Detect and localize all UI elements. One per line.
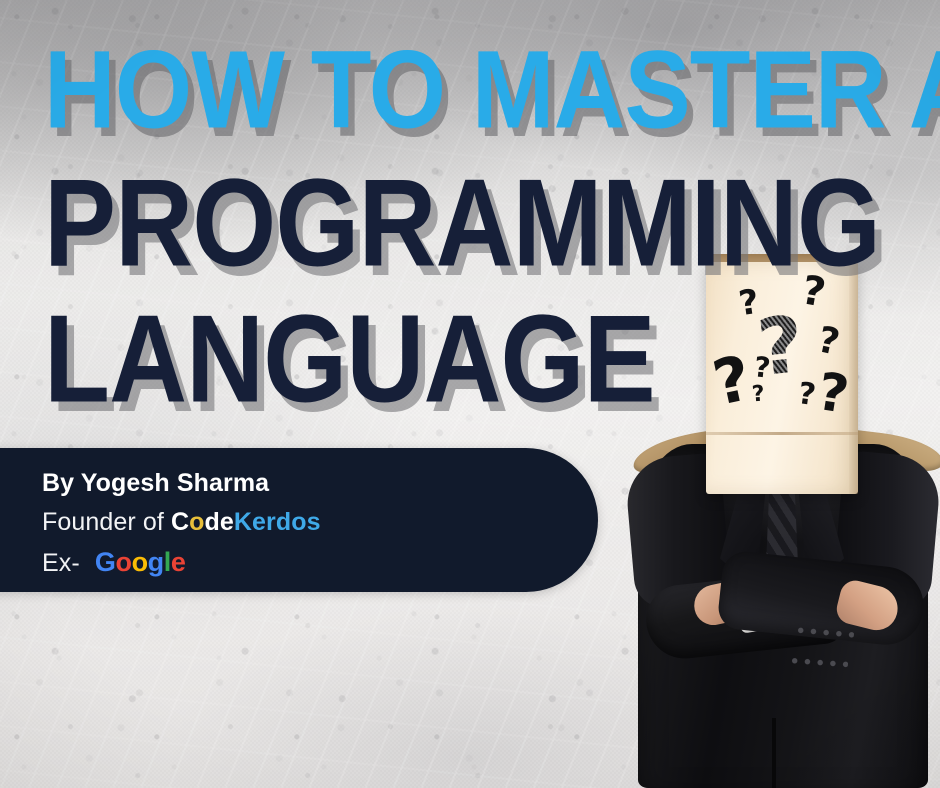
brand-letter-o: o: [189, 508, 204, 536]
author-ex-company-line: Ex- Google: [42, 542, 598, 583]
box-fold-line: [706, 432, 858, 435]
headline-block: HOW TO MASTER A PROGRAMMING LANGUAGE: [44, 44, 940, 408]
author-role-line: Founder of CodeKerdos: [42, 502, 598, 542]
author-byline-panel: By Yogesh Sharma Founder of CodeKerdos E…: [0, 448, 598, 592]
author-name: By Yogesh Sharma: [42, 464, 598, 502]
brand-codekerdos: CodeKerdos: [171, 508, 321, 536]
ex-prefix-text: Ex-: [42, 549, 87, 577]
brand-letters-de: de: [205, 508, 234, 536]
headline-line-3: LANGUAGE: [44, 306, 940, 412]
google-letter-o1: o: [115, 547, 131, 577]
trouser-seam: [772, 718, 776, 788]
google-logo: Google: [87, 547, 186, 577]
founder-prefix-text: Founder of: [42, 508, 171, 536]
google-letter-l: l: [164, 547, 171, 577]
google-letter-g2: g: [148, 547, 164, 577]
brand-word-kerdos: Kerdos: [234, 508, 321, 536]
google-letter-g1: G: [95, 547, 116, 577]
poster-canvas: ????????? HOW TO MASTER A PROGRAMMING LA…: [0, 0, 940, 788]
brand-letter-c: C: [171, 508, 189, 536]
google-letter-o2: o: [132, 547, 148, 577]
headline-line-1: HOW TO MASTER A: [44, 44, 940, 136]
headline-line-2: PROGRAMMING: [44, 170, 940, 276]
google-letter-e: e: [171, 547, 186, 577]
